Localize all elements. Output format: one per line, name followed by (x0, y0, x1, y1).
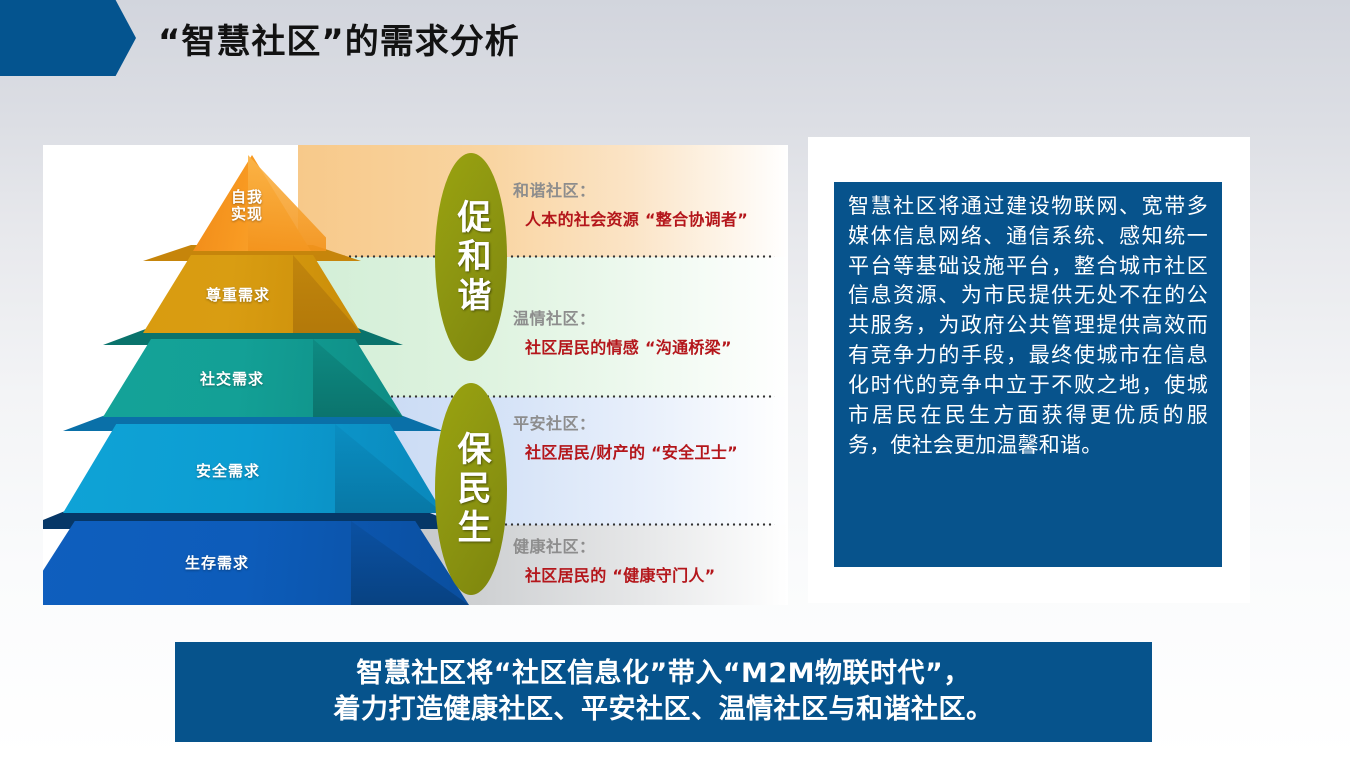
community-row-health: 健康社区： 社区居民的 “健康守门人” (513, 533, 788, 586)
pyramid-tier-label: 生存需求 (43, 555, 413, 572)
pyramid-tier-safety: 安全需求 (63, 411, 443, 513)
summary-banner: 智慧社区将“社区信息化”带入“M2M物联时代”， 着力打造健康社区、平安社区、温… (175, 642, 1152, 742)
pyramid-tier-label: 自我 实现 (193, 189, 301, 224)
pyramid-tier-self-actualization: 自我 实现 (193, 155, 311, 251)
community-row-body: 社区居民的情感 “沟通桥梁” (525, 334, 788, 358)
community-row-heading: 温情社区： (513, 305, 788, 329)
pyramid-tier-esteem: 尊重需求 (143, 245, 361, 333)
summary-banner-line-2: 着力打造健康社区、平安社区、温情社区与和谐社区。 (334, 692, 994, 728)
page-title: “智慧社区”的需求分析 (158, 14, 520, 63)
oval-promote-harmony: 促和谐 (435, 153, 507, 361)
community-row-heading: 和谐社区： (513, 177, 788, 201)
oval-label: 促和谐 (454, 199, 488, 316)
community-row-heading: 健康社区： (513, 533, 788, 557)
maslow-pyramid: 生存需求 安全需求 社交需求 尊重需求 自我 实现 (43, 145, 443, 605)
pyramid-tier-survival: 生存需求 (43, 507, 469, 605)
community-row-heading: 平安社区： (513, 410, 788, 434)
pyramid-infographic-panel: 生存需求 安全需求 社交需求 尊重需求 自我 实现 促和谐 保民生 和谐社区： … (43, 145, 788, 605)
summary-banner-line-1: 智慧社区将“社区信息化”带入“M2M物联时代”， (356, 656, 971, 692)
community-row-harmonious: 和谐社区： 人本的社会资源 “整合协调者” (513, 177, 788, 230)
community-row-body: 人本的社会资源 “整合协调者” (525, 206, 788, 230)
description-text: 智慧社区将通过建设物联网、宽带多媒体信息网络、通信系统、感知统一平台等基础设施平… (848, 192, 1208, 460)
pyramid-tier-label: 安全需求 (63, 463, 393, 480)
header-chevron-shape (0, 0, 136, 76)
community-row-warm: 温情社区： 社区居民的情感 “沟通桥梁” (513, 305, 788, 358)
pyramid-tier-label: 尊重需求 (143, 287, 333, 304)
description-blue-box: 智慧社区将通过建设物联网、宽带多媒体信息网络、通信系统、感知统一平台等基础设施平… (834, 182, 1222, 567)
pyramid-tier-label: 社交需求 (103, 371, 361, 388)
community-row-safe: 平安社区： 社区居民/财产的 “安全卫士” (513, 410, 788, 463)
community-row-body: 社区居民的 “健康守门人” (525, 562, 788, 586)
pyramid-tier-social: 社交需求 (103, 327, 403, 417)
oval-protect-livelihood: 保民生 (435, 383, 507, 595)
slide-header: “智慧社区”的需求分析 (0, 0, 1350, 80)
oval-label: 保民生 (454, 431, 488, 548)
community-row-body: 社区居民/财产的 “安全卫士” (525, 439, 788, 463)
